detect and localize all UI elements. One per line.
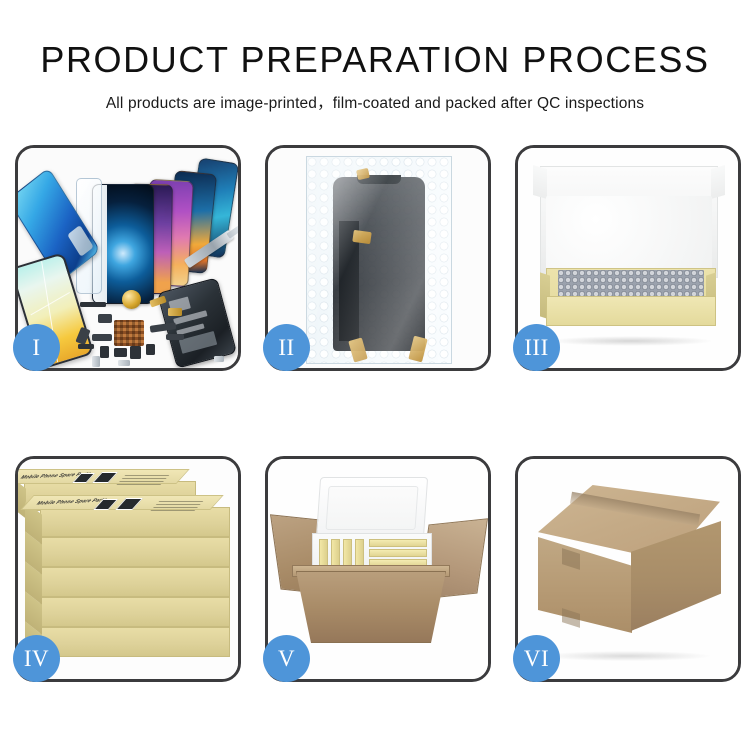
spare-part	[100, 346, 109, 358]
step-badge-2: II	[263, 324, 310, 371]
step-badge-5: V	[263, 635, 310, 682]
spare-part	[98, 314, 112, 323]
bag-sheen	[307, 157, 451, 363]
step-panel-5[interactable]: V	[265, 456, 491, 682]
foam-lid	[316, 477, 428, 539]
logic-board-part	[114, 320, 144, 346]
box-label-swatch	[92, 472, 118, 483]
spare-part	[166, 334, 184, 340]
spare-part	[80, 302, 106, 307]
spare-part	[114, 348, 127, 357]
spare-part	[92, 356, 100, 367]
carton-body	[296, 571, 446, 643]
inner-box	[369, 549, 427, 557]
step-badge-1: I	[13, 324, 60, 371]
spare-part	[130, 346, 141, 359]
stacked-box	[40, 537, 230, 567]
step-panel-2[interactable]: II	[265, 145, 491, 371]
box-label-swatch	[115, 498, 143, 510]
spare-part	[168, 308, 182, 316]
step-panel-1[interactable]: I	[15, 145, 241, 371]
spare-part	[92, 334, 112, 341]
process-step-grid: I II	[15, 145, 737, 682]
bubble-wrap-bag	[306, 156, 452, 364]
stacked-box-labelled: Mobile Phone Spare Parts	[40, 507, 230, 537]
stacked-box	[40, 597, 230, 627]
drop-shadow	[544, 651, 710, 661]
spare-part	[214, 356, 224, 362]
spare-part	[146, 344, 155, 355]
spare-part	[118, 360, 130, 366]
box-tray-front	[546, 296, 716, 326]
foam-liner	[546, 196, 712, 274]
step-panel-6[interactable]: VI	[515, 456, 741, 682]
speaker-module-part	[122, 290, 141, 309]
inner-box	[369, 539, 427, 547]
box-stack: Mobile Phone Spare Parts Mobile Phone Sp…	[24, 477, 234, 669]
housing-detail	[179, 331, 217, 354]
header: PRODUCT PREPARATION PROCESS All products…	[0, 0, 750, 113]
box-label-lines	[150, 499, 205, 511]
box-top-face: Mobile Phone Spare Parts	[20, 495, 224, 510]
product-preparation-infographic: PRODUCT PREPARATION PROCESS All products…	[0, 0, 750, 750]
drop-shadow	[548, 336, 714, 346]
stacked-box	[40, 567, 230, 597]
step-badge-6: VI	[513, 635, 560, 682]
page-title: PRODUCT PREPARATION PROCESS	[0, 0, 750, 78]
step-badge-3: III	[513, 324, 560, 371]
box-label-lines	[116, 473, 171, 485]
stacked-box	[40, 627, 230, 657]
step-panel-4[interactable]: Mobile Phone Spare Parts Mobile Phone Sp…	[15, 456, 241, 682]
step-badge-4: IV	[13, 635, 60, 682]
step-panel-3[interactable]: III	[515, 145, 741, 371]
spare-part	[78, 344, 94, 349]
page-subtitle: All products are image-printed，film-coat…	[0, 78, 750, 113]
box-top-face: Mobile Phone Spare Parts	[18, 469, 190, 484]
carton-left-face	[538, 537, 632, 633]
